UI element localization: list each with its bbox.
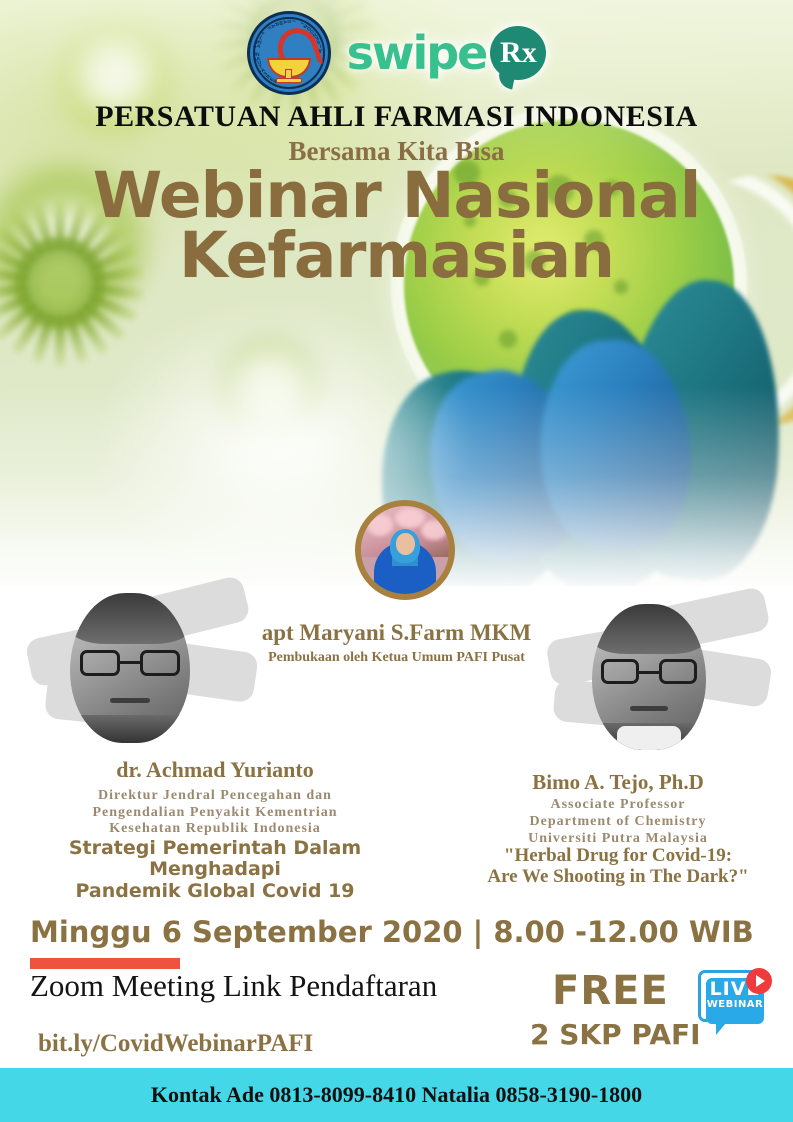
swipe-wordmark: swipe (347, 30, 487, 76)
right-affiliation-line2: Department of Chemistry (443, 814, 793, 831)
webinar-poster: PERSATUAN AHLI FARMASI INDONESIA* PAFI *… (0, 0, 793, 1122)
right-speaker-topic: "Herbal Drug for Covid-19: Are We Shooti… (443, 845, 793, 888)
logo-row: PERSATUAN AHLI FARMASI INDONESIA* PAFI *… (0, 8, 793, 98)
blossom-2 (395, 508, 425, 528)
avatar (355, 500, 455, 600)
left-speaker-photo (40, 585, 250, 760)
swiperx-logo: swipe Rx (347, 26, 547, 80)
left-affiliation-line1: Direktur Jendral Pencegahan dan (0, 788, 430, 805)
contact-bar: Kontak Ade 0813-8099-8410 Natalia 0858-3… (0, 1068, 793, 1122)
center-speaker-photo (355, 500, 439, 600)
contact-text: Kontak Ade 0813-8099-8410 Natalia 0858-3… (151, 1082, 642, 1108)
mouth (630, 706, 669, 711)
left-topic-line1: Strategi Pemerintah Dalam Menghadapi (0, 838, 430, 881)
credits-label: 2 SKP PAFI (530, 1018, 701, 1051)
right-topic-line2: Are We Shooting in The Dark?" (443, 866, 793, 887)
left-speaker-face (70, 593, 190, 743)
play-button-icon (746, 968, 772, 994)
right-speaker-affiliation: Associate Professor Department of Chemis… (443, 797, 793, 847)
pafi-bowl-base (276, 78, 302, 83)
left-speaker-topic: Strategi Pemerintah Dalam Menghadapi Pan… (0, 838, 430, 902)
live-webinar-badge-icon: LIVE WEBINAR (694, 968, 772, 1042)
main-title-line2: Kefarmasian (0, 226, 793, 286)
registration-link[interactable]: bit.ly/CovidWebinarPAFI (38, 1030, 313, 1058)
pafi-logo-icon: PERSATUAN AHLI FARMASI INDONESIA* PAFI * (247, 11, 331, 95)
avatar-face (396, 533, 415, 555)
right-speaker-name: Bimo A. Tejo, Ph.D (443, 770, 793, 795)
left-topic-line2: Pandemik Global Covid 19 (0, 881, 430, 902)
batik-collar (70, 715, 190, 743)
main-title: Webinar Nasional Kefarmasian (0, 166, 793, 286)
registration-label: Zoom Meeting Link Pendaftaran (30, 968, 437, 1004)
right-affiliation-line1: Associate Professor (443, 797, 793, 814)
rx-label: Rx (500, 38, 537, 68)
virus-spike (55, 315, 65, 367)
left-affiliation-line2: Pengendalian Penyakit Kementrian (0, 805, 430, 822)
left-affiliation-line3: Kesehatan Republik Indonesia (0, 821, 430, 838)
price-label: FREE (552, 968, 669, 1014)
rx-speech-bubble-icon: Rx (490, 26, 546, 80)
organization-title: PERSATUAN AHLI FARMASI INDONESIA (0, 100, 793, 134)
event-datetime: Minggu 6 September 2020 | 8.00 -12.00 WI… (30, 915, 754, 949)
left-speaker-affiliation: Direktur Jendral Pencegahan dan Pengenda… (0, 788, 430, 838)
center-speaker-name: apt Maryani S.Farm MKM (0, 620, 793, 646)
shirt (617, 726, 681, 750)
badge-webinar-label: WEBINAR (706, 1000, 764, 1010)
left-speaker-name: dr. Achmad Yurianto (0, 757, 430, 783)
right-topic-line1: "Herbal Drug for Covid-19: (443, 845, 793, 866)
center-speaker-role: Pembukaan oleh Ketua Umum PAFI Pusat (0, 650, 793, 666)
mouth (110, 698, 151, 703)
blossom-1 (367, 514, 393, 536)
blossom-3 (421, 520, 447, 540)
